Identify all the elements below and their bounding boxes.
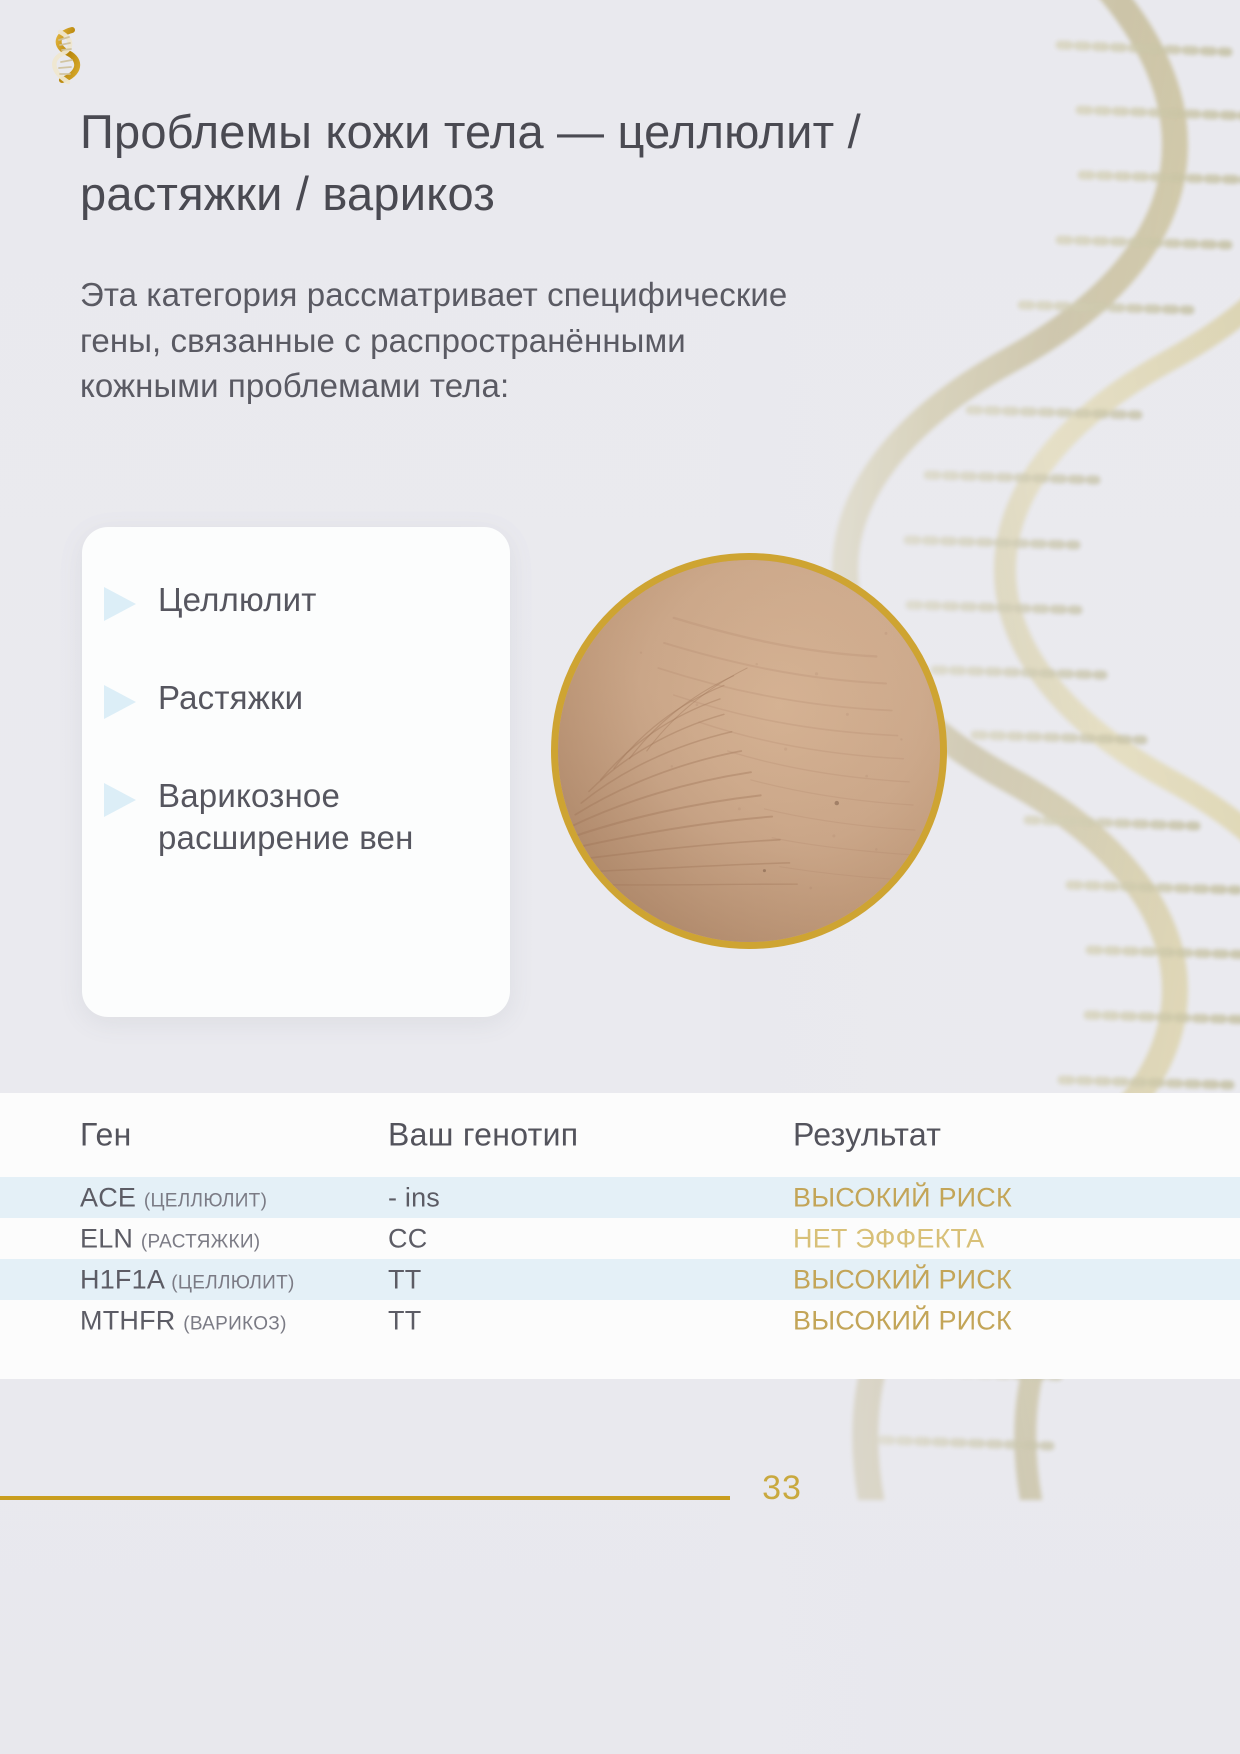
cell-result: ВЫСОКИЙ РИСК <box>793 1305 1012 1336</box>
gene-symbol: MTHFR <box>80 1305 175 1335</box>
genotype-table: Ген Ваш генотип Результат ACE (ЦЕЛЛЮЛИТ)… <box>0 1093 1240 1379</box>
list-item: Целлюлит <box>104 579 496 621</box>
bullet-card: Целлюлит Растяжки Варикозное расширение … <box>82 527 510 1017</box>
cell-gene: ELN (РАСТЯЖКИ) <box>80 1223 260 1254</box>
cell-genotype: TT <box>388 1264 421 1295</box>
triangle-bullet-icon <box>104 685 136 719</box>
table-header-row: Ген Ваш генотип Результат <box>0 1093 1240 1177</box>
triangle-bullet-icon <box>104 783 136 817</box>
column-header-genotype: Ваш генотип <box>388 1117 578 1154</box>
gene-note: (ЦЕЛЛЮЛИТ) <box>144 1190 267 1211</box>
cell-gene: H1F1A (ЦЕЛЛЮЛИТ) <box>80 1264 295 1295</box>
bullet-label: Варикозное расширение вен <box>158 775 496 858</box>
table-row: H1F1A (ЦЕЛЛЮЛИТ) TT ВЫСОКИЙ РИСК <box>0 1259 1240 1300</box>
intro-paragraph: Эта категория рассматривает специфически… <box>80 272 800 409</box>
cell-genotype: CC <box>388 1223 427 1254</box>
gene-symbol: H1F1A <box>80 1264 164 1294</box>
page-title: Проблемы кожи тела — целлюлит / растяжки… <box>80 101 960 225</box>
table-row: MTHFR (ВАРИКОЗ) TT ВЫСОКИЙ РИСК <box>0 1300 1240 1341</box>
dna-helix-icon <box>38 24 94 90</box>
bullet-label: Растяжки <box>158 677 303 719</box>
bullet-list: Целлюлит Растяжки Варикозное расширение … <box>104 579 496 858</box>
cell-result: НЕТ ЭФФЕКТА <box>793 1223 985 1254</box>
gene-symbol: ACE <box>80 1182 136 1212</box>
page-number: 33 <box>737 1469 827 1508</box>
gene-note: (РАСТЯЖКИ) <box>141 1231 261 1252</box>
slide-page: Проблемы кожи тела — целлюлит / растяжки… <box>0 0 1240 1754</box>
cell-genotype: TT <box>388 1305 421 1336</box>
skin-photo-image <box>558 560 940 942</box>
gene-symbol: ELN <box>80 1223 133 1253</box>
footer-divider <box>0 1496 730 1500</box>
gene-note: (ЦЕЛЛЮЛИТ) <box>171 1272 294 1293</box>
cell-gene: MTHFR (ВАРИКОЗ) <box>80 1305 287 1336</box>
gene-note: (ВАРИКОЗ) <box>183 1313 287 1334</box>
cell-genotype: - ins <box>388 1182 440 1213</box>
cell-result: ВЫСОКИЙ РИСК <box>793 1182 1012 1213</box>
list-item: Варикозное расширение вен <box>104 775 496 858</box>
table-footer-spacer <box>0 1341 1240 1379</box>
column-header-gene: Ген <box>80 1117 132 1154</box>
cell-result: ВЫСОКИЙ РИСК <box>793 1264 1012 1295</box>
triangle-bullet-icon <box>104 587 136 621</box>
column-header-result: Результат <box>793 1117 941 1154</box>
skin-photo <box>551 553 947 949</box>
cell-gene: ACE (ЦЕЛЛЮЛИТ) <box>80 1182 267 1213</box>
bullet-label: Целлюлит <box>158 579 317 621</box>
list-item: Растяжки <box>104 677 496 719</box>
table-row: ACE (ЦЕЛЛЮЛИТ) - ins ВЫСОКИЙ РИСК <box>0 1177 1240 1218</box>
table-row: ELN (РАСТЯЖКИ) CC НЕТ ЭФФЕКТА <box>0 1218 1240 1259</box>
